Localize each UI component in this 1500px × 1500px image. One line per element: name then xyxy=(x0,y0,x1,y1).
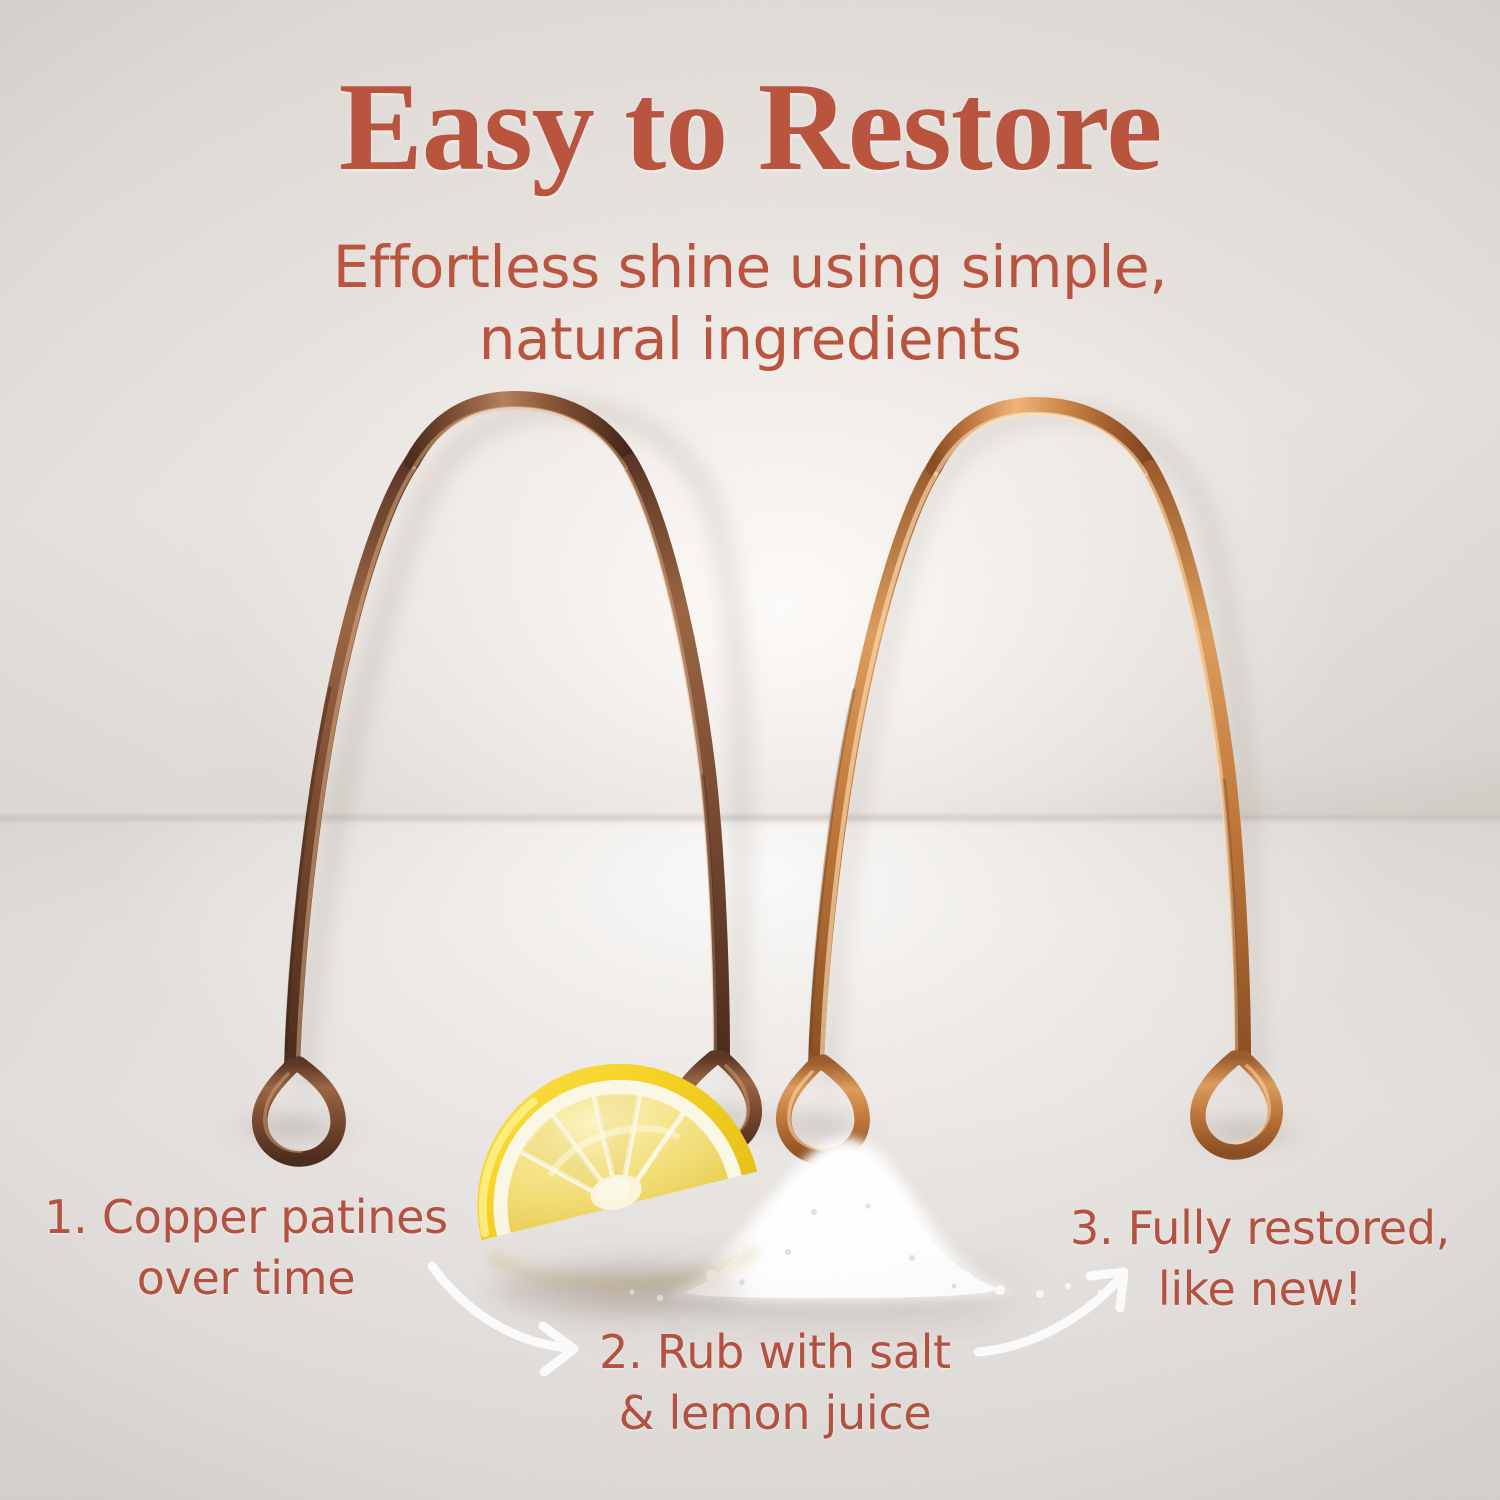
caption-step-3-line-1: 3. Fully restored, xyxy=(1040,1198,1480,1259)
caption-step-1-line-1: 1. Copper patines xyxy=(26,1187,466,1248)
caption-step-1: 1. Copper patines over time xyxy=(26,1187,466,1308)
subtitle-line-1: Effortless shine using simple, xyxy=(0,232,1500,304)
page-title: Easy to Restore xyxy=(0,62,1500,193)
page-subtitle: Effortless shine using simple, natural i… xyxy=(0,232,1500,376)
caption-step-2-line-1: 2. Rub with salt xyxy=(565,1322,985,1383)
product-infographic: Easy to Restore Effortless shine using s… xyxy=(0,0,1500,1500)
caption-step-3-line-2: like new! xyxy=(1040,1259,1480,1320)
caption-step-1-line-2: over time xyxy=(26,1248,466,1309)
caption-step-3: 3. Fully restored, like new! xyxy=(1040,1198,1480,1319)
caption-step-2-line-2: & lemon juice xyxy=(565,1383,985,1444)
subtitle-line-2: natural ingredients xyxy=(0,304,1500,376)
caption-step-2: 2. Rub with salt & lemon juice xyxy=(565,1322,985,1443)
